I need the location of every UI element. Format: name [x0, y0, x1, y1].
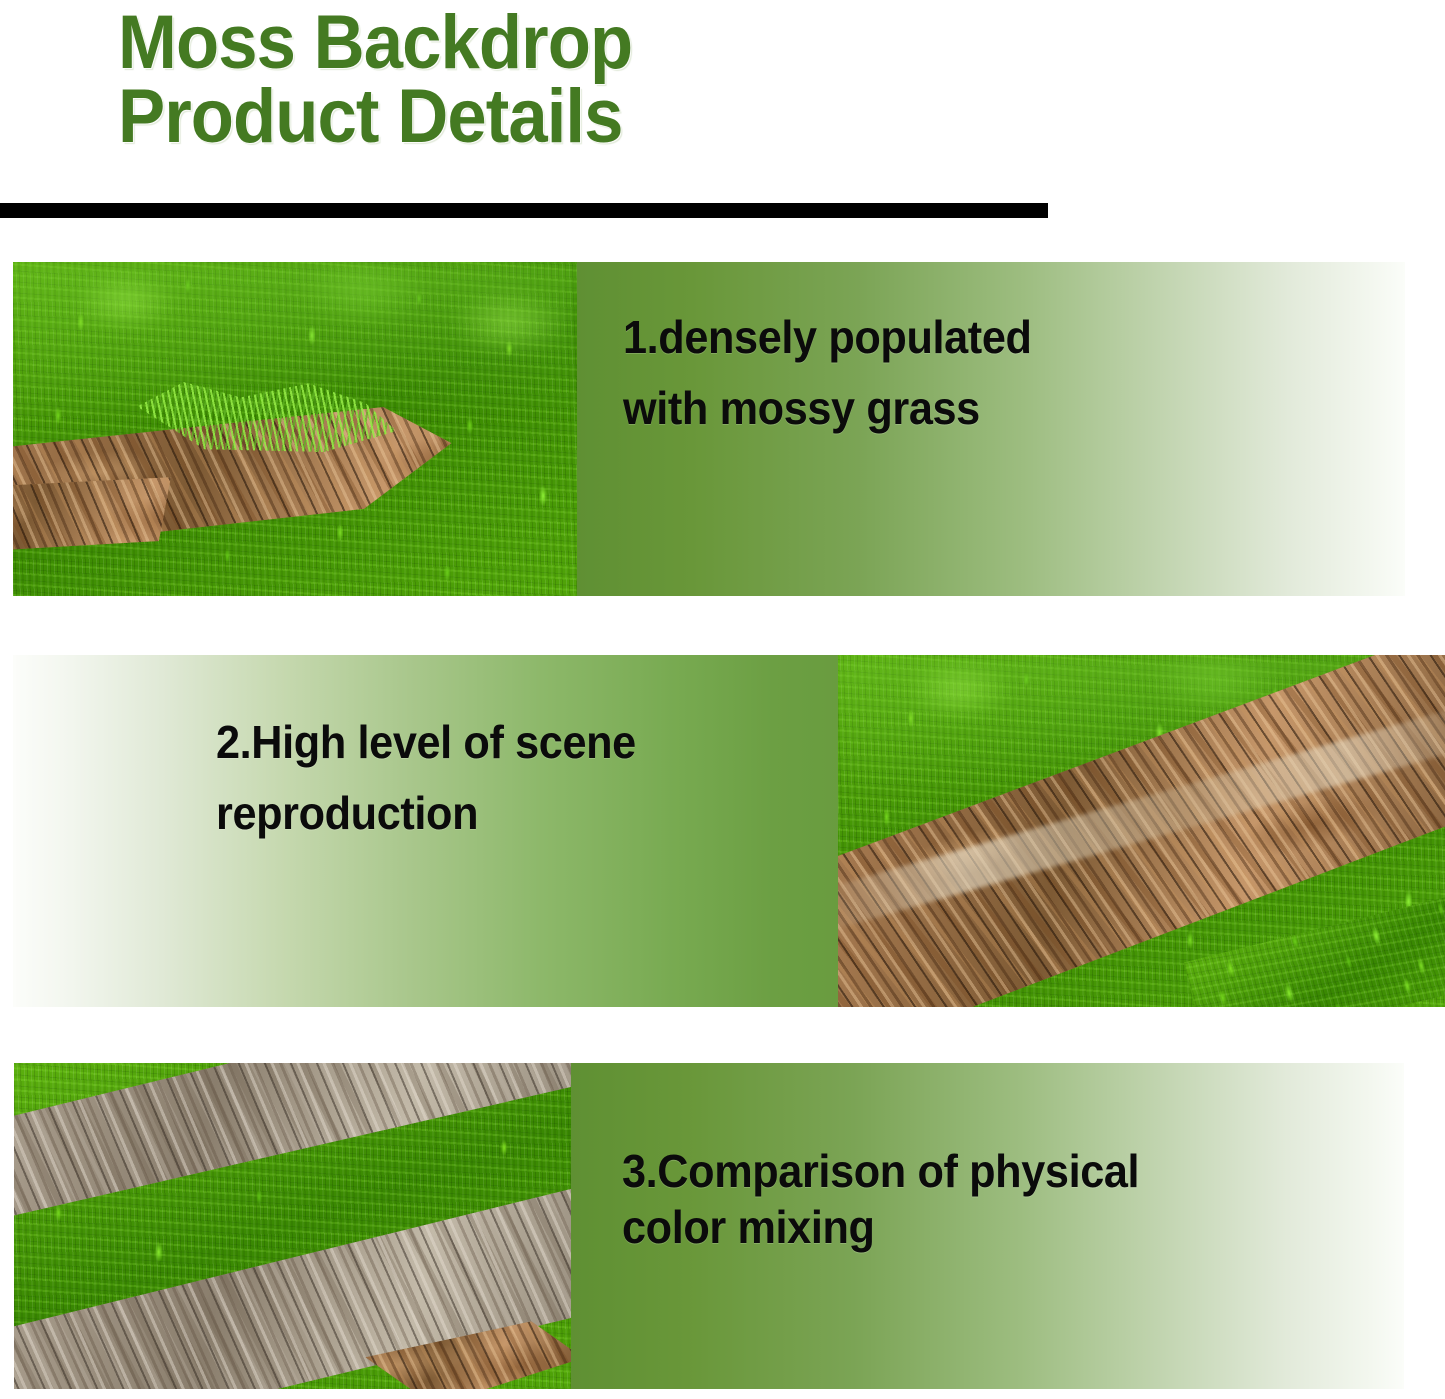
feature-2-caption: 2.High level of scene reproduction [216, 707, 836, 850]
title-divider-rule [0, 203, 1048, 218]
feature-panel-2: 2.High level of scene reproduction [13, 655, 1445, 1007]
feature-panel-3: 3.Comparison of physical color mixing [14, 1063, 1404, 1389]
feature-panel-1: 1.densely populated with mossy grass [13, 262, 1405, 596]
feature-1-caption: 1.densely populated with mossy grass [623, 302, 1337, 445]
feature-3-photo [14, 1063, 571, 1389]
page-title: Moss Backdrop Product Details [118, 6, 1002, 155]
feature-2-photo [838, 655, 1445, 1007]
feature-3-caption: 3.Comparison of physical color mixing [622, 1143, 1336, 1255]
feature-1-photo [13, 262, 577, 596]
